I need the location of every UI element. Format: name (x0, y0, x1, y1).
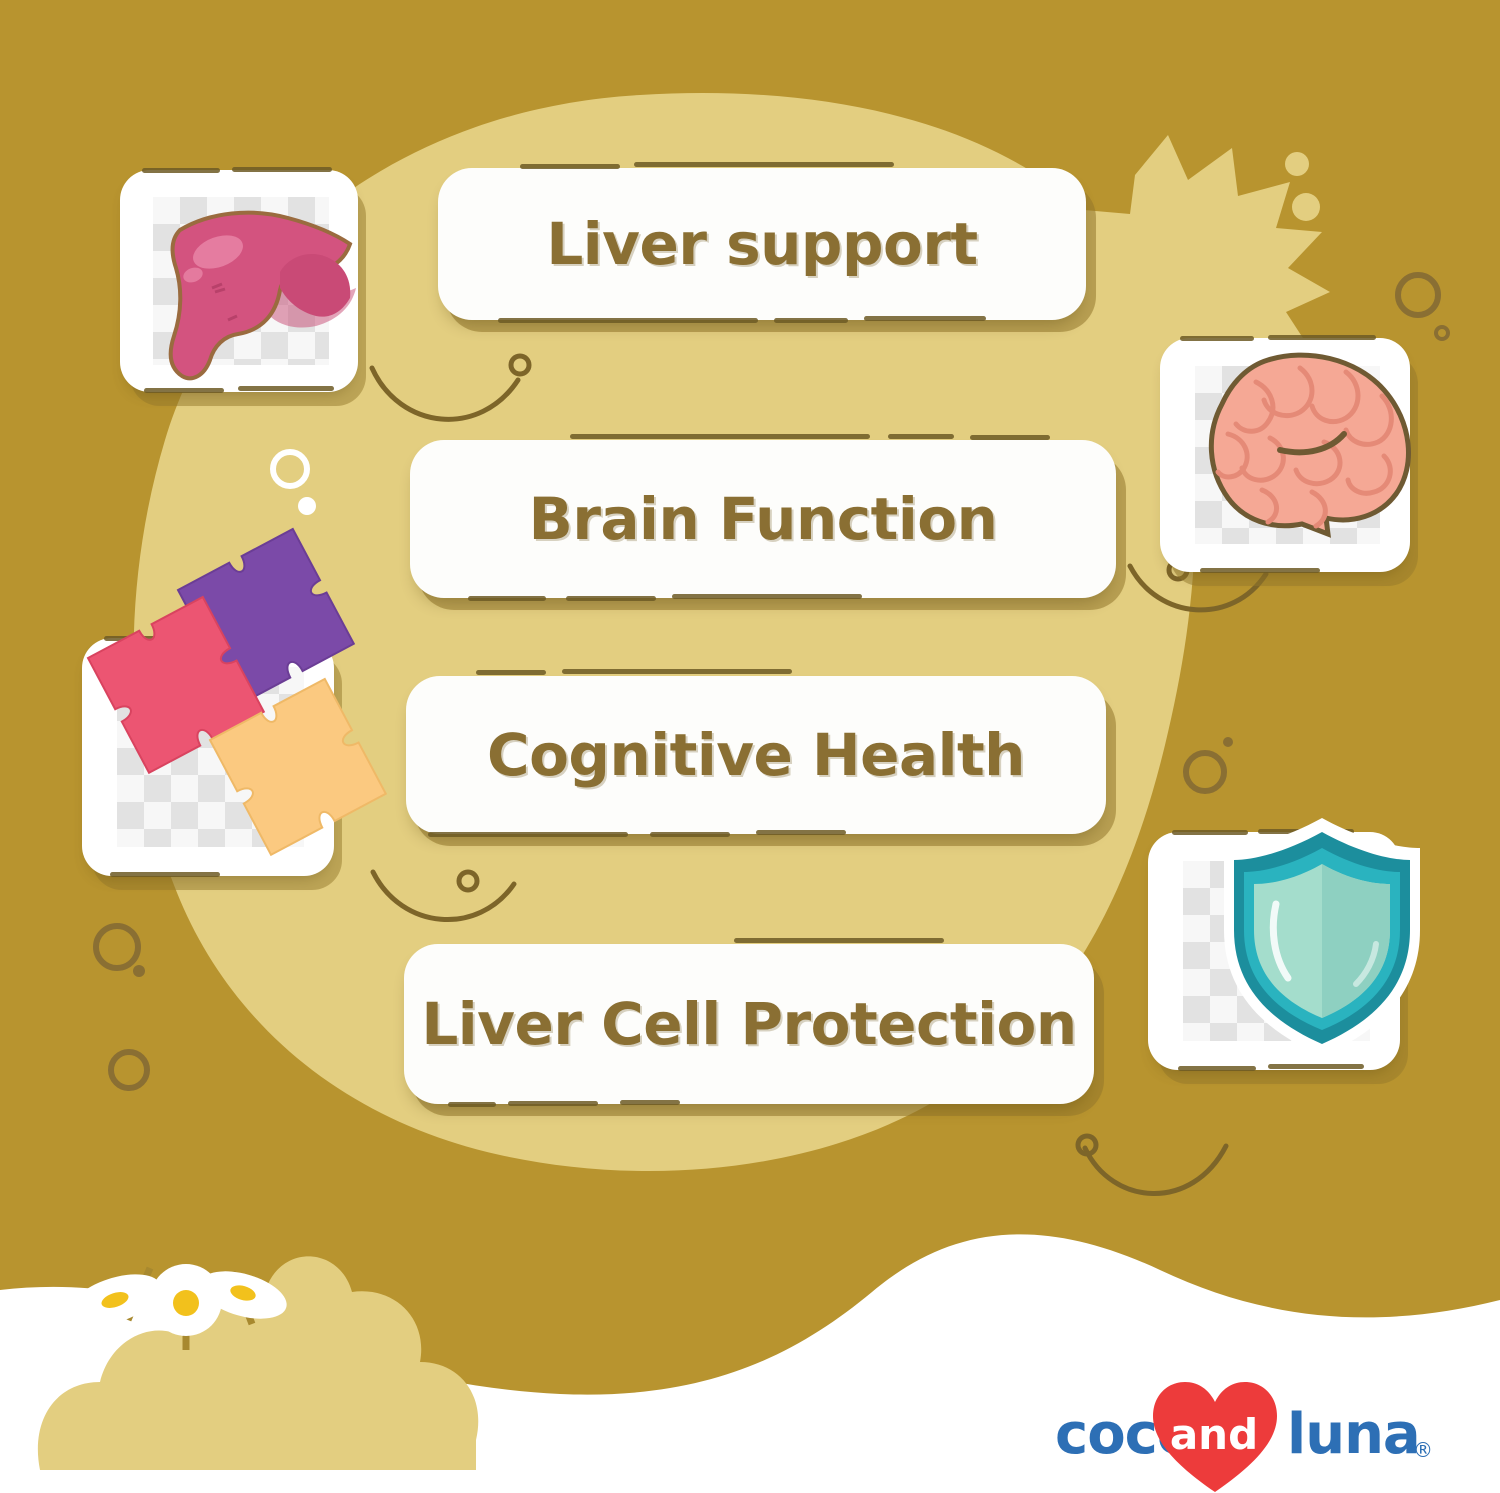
benefit-label: Brain Function (529, 485, 998, 553)
decor-dot-brown-3 (133, 965, 145, 977)
benefit-bar-face: Cognitive Health (406, 676, 1106, 834)
benefit-bar-liver-cell-protection[interactable]: Liver Cell Protection (404, 944, 1094, 1104)
decor-dot-brown-2 (1223, 737, 1233, 747)
icon-card-brain (1160, 338, 1410, 572)
icon-card-puzzle (82, 638, 334, 876)
bar-tick (650, 832, 730, 837)
bar-tick (498, 318, 758, 323)
bar-tick (864, 316, 986, 321)
benefit-label: Liver support (546, 210, 977, 278)
brain-icon (1160, 338, 1410, 572)
flower-center-center (173, 1290, 199, 1316)
benefit-bar-liver-support[interactable]: Liver support (438, 168, 1086, 320)
decor-dot-tan-1 (1285, 152, 1309, 176)
bar-tick (520, 164, 620, 169)
bar-tick (970, 435, 1050, 440)
bar-tick (774, 318, 848, 323)
bar-tick (428, 832, 628, 837)
infographic-canvas: Liver support Brain Function Cognitive H… (0, 0, 1500, 1493)
benefit-bar-face: Brain Function (410, 440, 1116, 598)
bar-tick (448, 1102, 496, 1107)
icon-card-shield (1148, 832, 1400, 1070)
brand-logo[interactable]: coco and luna ® (1055, 1388, 1435, 1480)
benefit-bar-cognitive-health[interactable]: Cognitive Health (406, 676, 1106, 834)
decor-dot-tan-2 (1292, 193, 1320, 221)
registered-mark: ® (1413, 1438, 1433, 1462)
logo-word-and: and (1151, 1410, 1277, 1459)
bar-tick (888, 434, 954, 439)
bar-tick (620, 1100, 680, 1105)
bar-tick (468, 596, 546, 601)
decor-dot-white-1 (298, 497, 316, 515)
bar-tick (672, 594, 862, 599)
bar-tick (476, 670, 546, 675)
icon-card-liver (120, 170, 358, 392)
bar-tick (570, 434, 870, 439)
logo-word-luna: luna (1287, 1402, 1420, 1467)
bar-tick (756, 830, 846, 835)
bar-tick (566, 596, 656, 601)
benefit-label: Cognitive Health (487, 721, 1025, 789)
bar-tick (634, 162, 894, 167)
bar-tick (734, 938, 944, 943)
shield-icon (1148, 832, 1400, 1070)
bar-tick (562, 669, 792, 674)
bar-tick (508, 1101, 598, 1106)
benefit-bar-face: Liver Cell Protection (404, 944, 1094, 1104)
benefit-bar-brain-function[interactable]: Brain Function (410, 440, 1116, 598)
benefit-label: Liver Cell Protection (421, 990, 1076, 1058)
benefit-bar-face: Liver support (438, 168, 1086, 320)
puzzle-icon (82, 638, 334, 876)
liver-icon (120, 170, 358, 392)
